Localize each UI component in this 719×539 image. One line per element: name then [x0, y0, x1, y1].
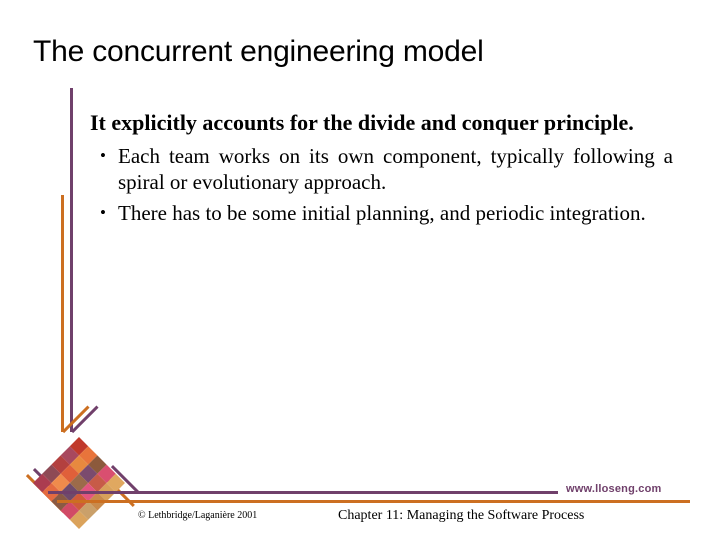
list-item: • There has to be some initial planning,… — [90, 201, 673, 227]
bullet-point-icon: • — [100, 201, 106, 225]
bullet-point-icon: • — [100, 144, 106, 168]
page-title: The concurrent engineering model — [33, 35, 484, 69]
list-item-text: Each team works on its own component, ty… — [118, 144, 673, 196]
decorative-vertical-rule-purple — [70, 88, 73, 432]
footer-rule-purple — [48, 491, 558, 494]
lead-paragraph: It explicitly accounts for the divide an… — [90, 110, 673, 136]
bullet-list: • Each team works on its own component, … — [90, 144, 673, 226]
copyright-label: © Lethbridge/Laganière 2001 — [138, 510, 257, 521]
quilt-decoration-icon — [33, 437, 125, 529]
list-item-text: There has to be some initial planning, a… — [118, 201, 673, 227]
decorative-vertical-rule-orange — [61, 195, 64, 432]
chapter-label: Chapter 11: Managing the Software Proces… — [338, 508, 584, 524]
slide-canvas: The concurrent engineering model It expl… — [0, 0, 719, 539]
site-url-label[interactable]: www.lloseng.com — [566, 483, 662, 495]
footer-rule-orange — [57, 500, 690, 503]
slide-body: It explicitly accounts for the divide an… — [90, 110, 673, 231]
list-item: • Each team works on its own component, … — [90, 144, 673, 196]
